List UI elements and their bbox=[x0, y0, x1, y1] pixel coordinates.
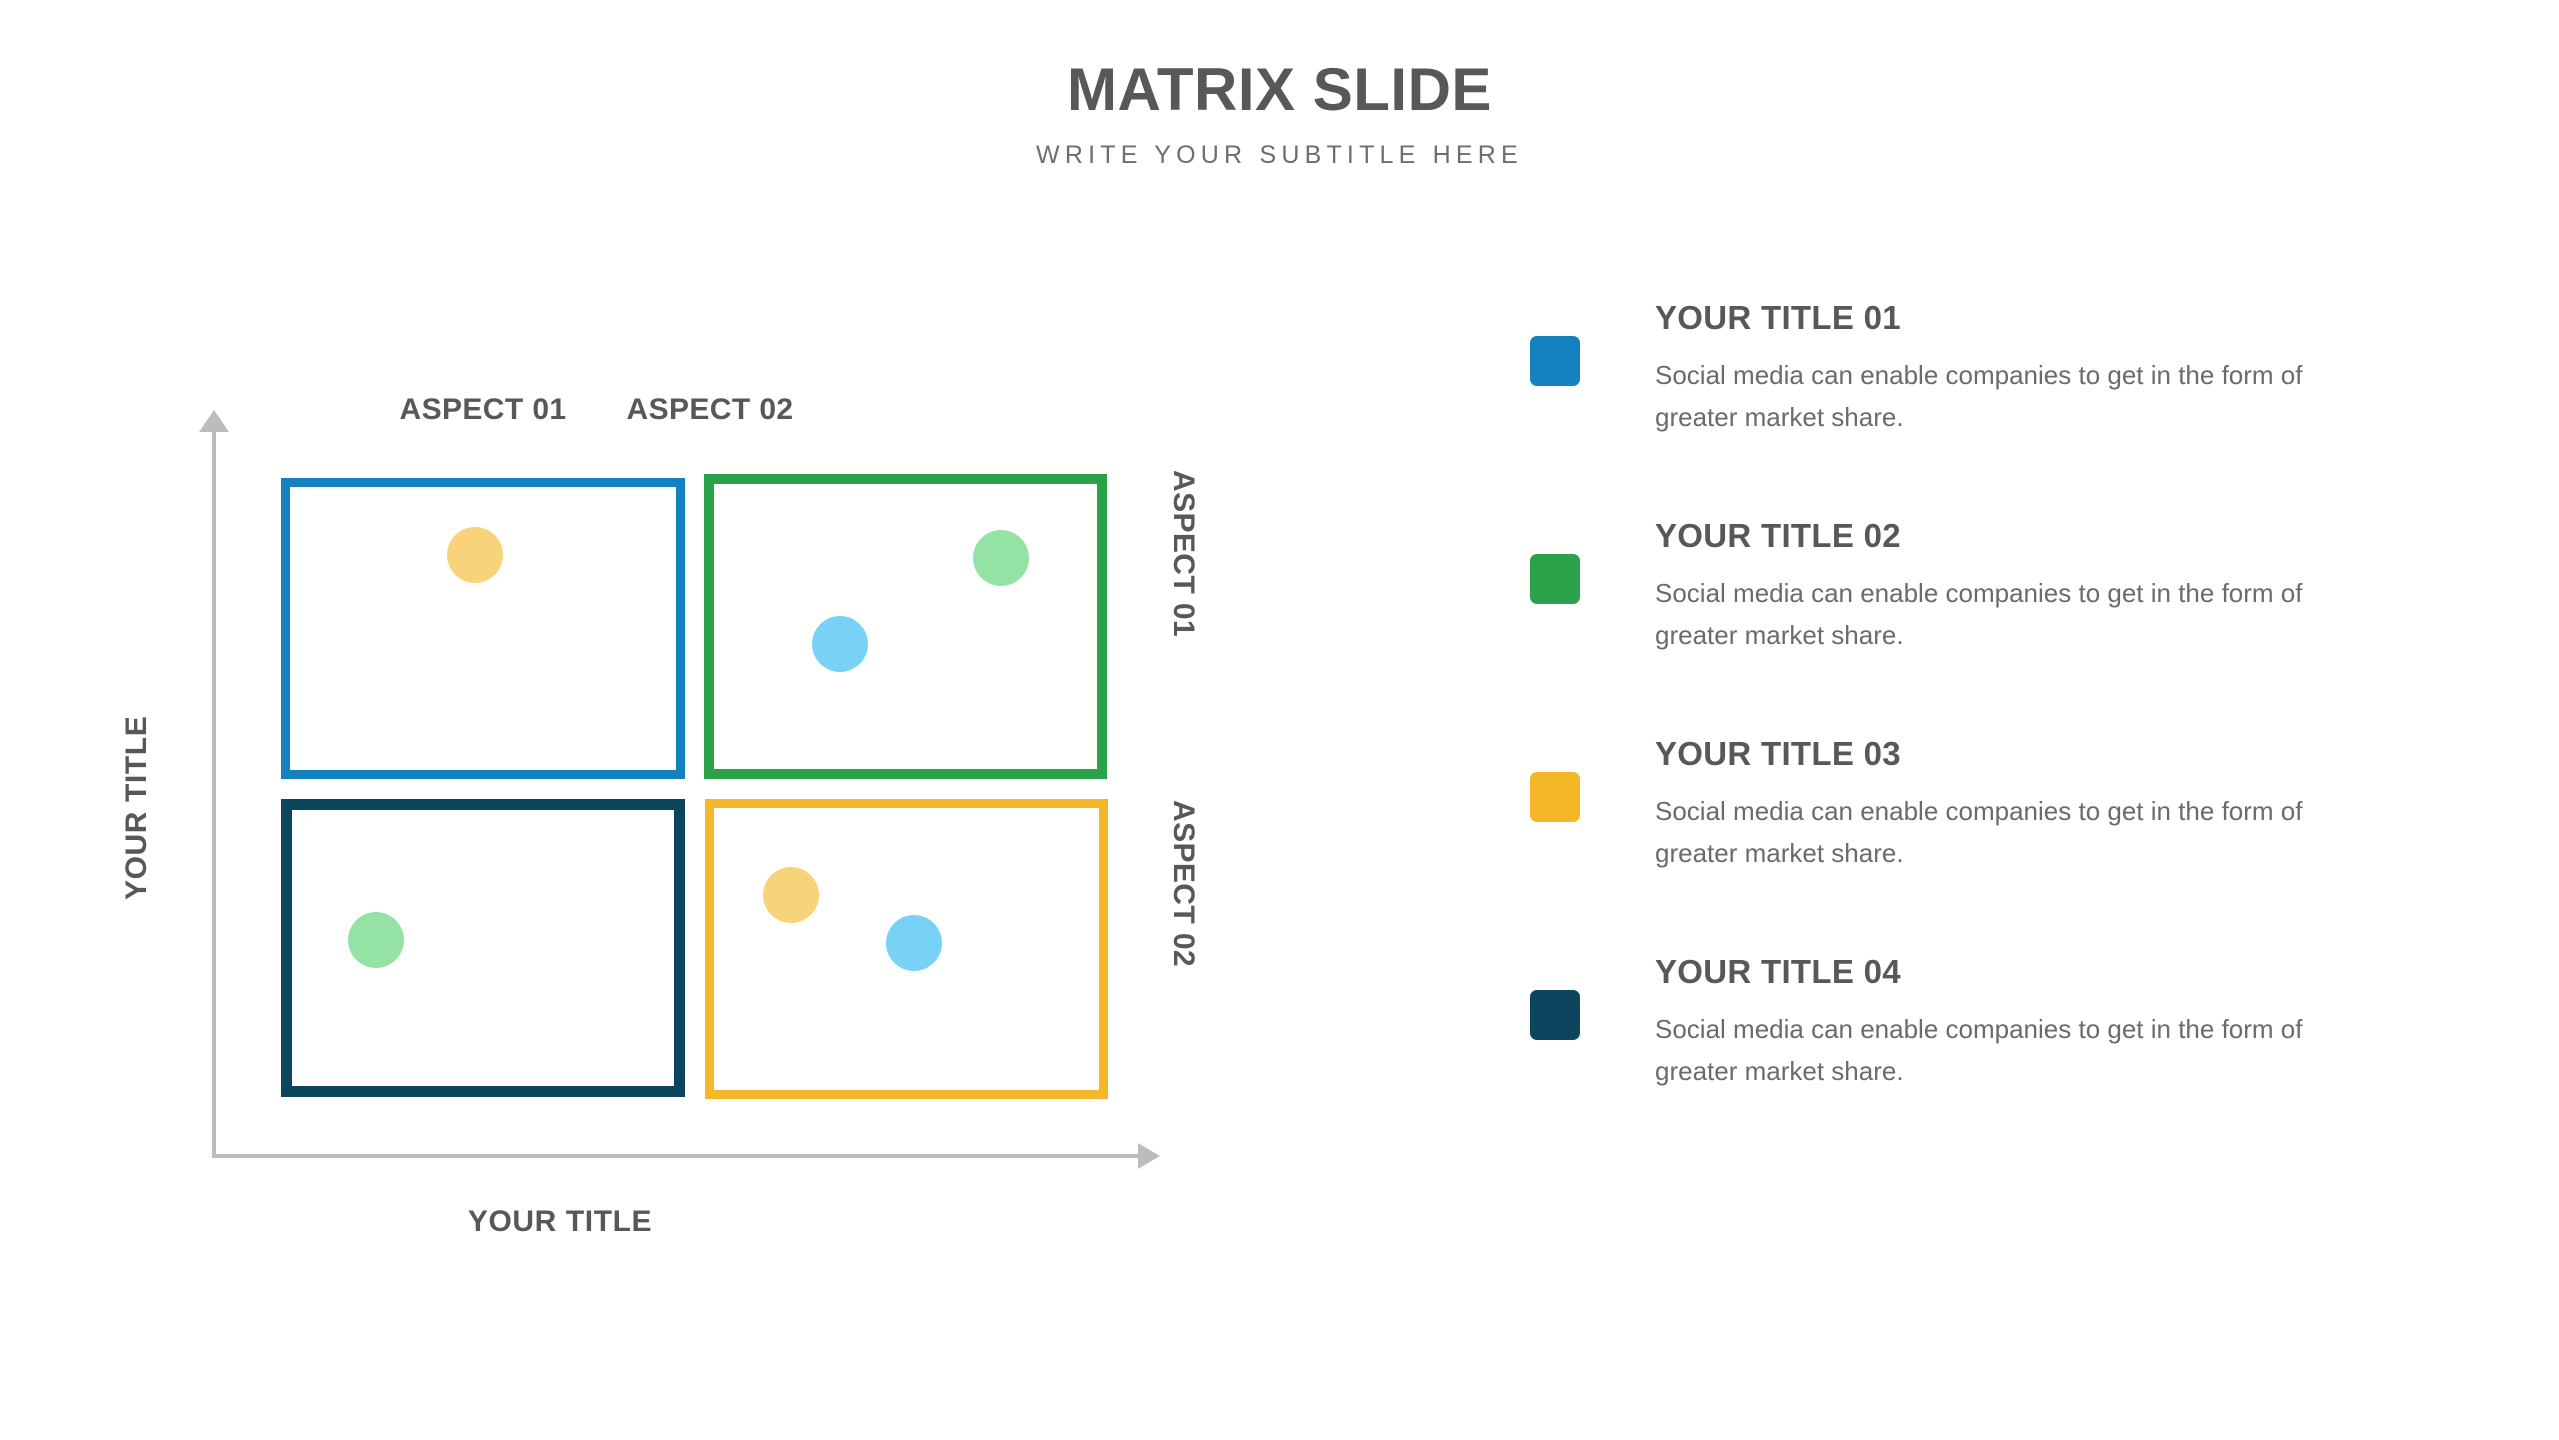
matrix-diagram: ASPECT 01 ASPECT 02 ASPECT 01 ASPECT 02 … bbox=[0, 0, 1300, 1440]
quadrant-top-left[interactable] bbox=[281, 478, 685, 779]
data-point-dot bbox=[348, 912, 404, 968]
legend-item[interactable]: YOUR TITLE 03Social media can enable com… bbox=[1530, 736, 2330, 904]
legend-list: YOUR TITLE 01Social media can enable com… bbox=[1530, 300, 2330, 1172]
legend-item-description: Social media can enable companies to get… bbox=[1655, 990, 2315, 1092]
quadrant-bottom-right[interactable] bbox=[705, 799, 1108, 1099]
data-point-dot bbox=[973, 530, 1029, 586]
legend-item-title: YOUR TITLE 02 bbox=[1655, 518, 2330, 554]
data-point-dot bbox=[812, 616, 868, 672]
column-header-aspect-02: ASPECT 02 bbox=[510, 393, 910, 427]
row-header-aspect-01: ASPECT 01 bbox=[1166, 470, 1200, 637]
legend-swatch-icon bbox=[1530, 990, 1580, 1040]
legend-swatch-icon bbox=[1530, 772, 1580, 822]
legend-item-description: Social media can enable companies to get… bbox=[1655, 772, 2315, 874]
legend-item[interactable]: YOUR TITLE 02Social media can enable com… bbox=[1530, 518, 2330, 686]
quadrant-bottom-left[interactable] bbox=[281, 799, 685, 1097]
legend-item-title: YOUR TITLE 01 bbox=[1655, 300, 2330, 336]
data-point-dot bbox=[886, 915, 942, 971]
legend-item[interactable]: YOUR TITLE 01Social media can enable com… bbox=[1530, 300, 2330, 468]
legend-text-block: YOUR TITLE 03Social media can enable com… bbox=[1655, 736, 2330, 875]
x-axis-line bbox=[212, 1154, 1142, 1158]
data-point-dot bbox=[763, 867, 819, 923]
legend-text-block: YOUR TITLE 04Social media can enable com… bbox=[1655, 954, 2330, 1093]
legend-item[interactable]: YOUR TITLE 04Social media can enable com… bbox=[1530, 954, 2330, 1122]
legend-text-block: YOUR TITLE 01Social media can enable com… bbox=[1655, 300, 2330, 439]
legend-item-title: YOUR TITLE 03 bbox=[1655, 736, 2330, 772]
legend-text-block: YOUR TITLE 02Social media can enable com… bbox=[1655, 518, 2330, 657]
x-axis-title: YOUR TITLE bbox=[410, 1205, 710, 1239]
legend-swatch-icon bbox=[1530, 554, 1580, 604]
row-header-aspect-02: ASPECT 02 bbox=[1166, 800, 1200, 967]
y-axis-title: YOUR TITLE bbox=[120, 716, 154, 900]
x-axis-arrow-icon bbox=[1138, 1143, 1160, 1169]
legend-item-title: YOUR TITLE 04 bbox=[1655, 954, 2330, 990]
legend-item-description: Social media can enable companies to get… bbox=[1655, 336, 2315, 438]
y-axis-line bbox=[212, 428, 216, 1158]
quadrant-top-right[interactable] bbox=[704, 474, 1107, 779]
y-axis-arrow-icon bbox=[199, 410, 229, 432]
legend-item-description: Social media can enable companies to get… bbox=[1655, 554, 2315, 656]
data-point-dot bbox=[447, 527, 503, 583]
legend-swatch-icon bbox=[1530, 336, 1580, 386]
